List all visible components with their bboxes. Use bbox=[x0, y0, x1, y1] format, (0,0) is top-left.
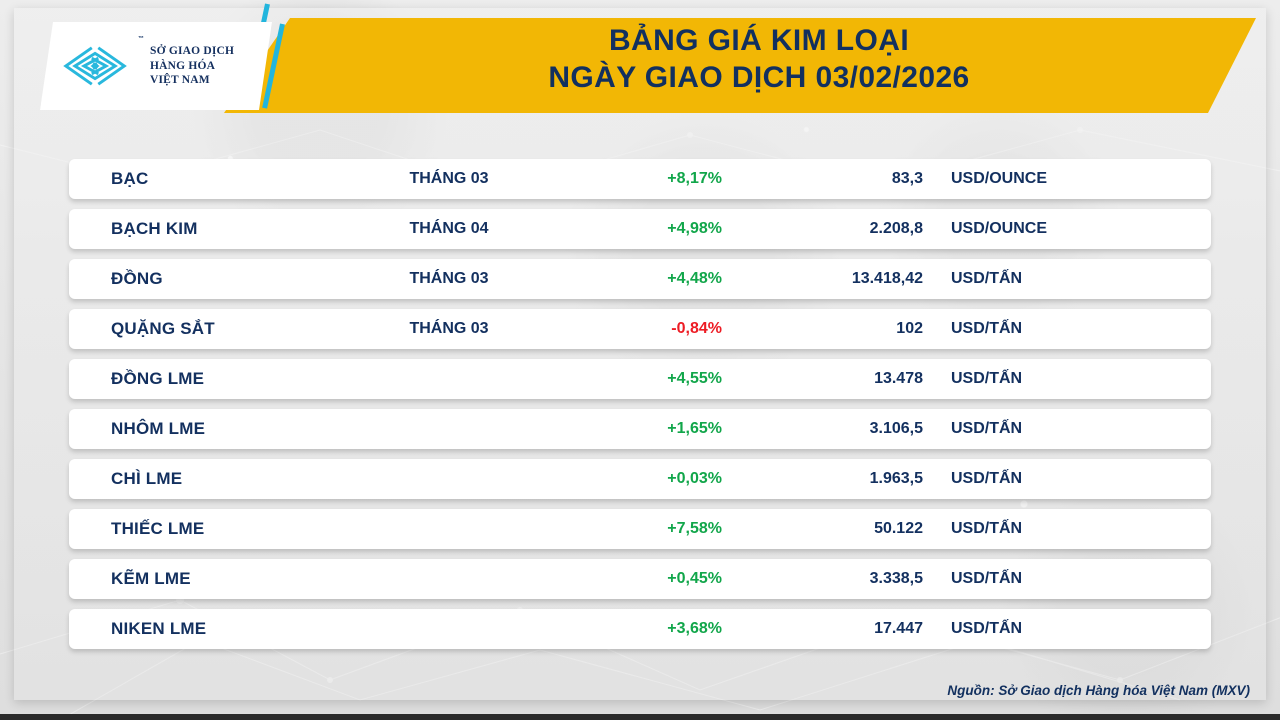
row-change-percent: +1,65% bbox=[569, 420, 722, 438]
logo-line-3: VIỆT NAM bbox=[150, 73, 234, 88]
row-unit: USD/TẤN bbox=[951, 370, 1022, 388]
table-row[interactable]: NHÔM LME+1,65%3.106,5USD/TẤN bbox=[69, 409, 1211, 449]
table-row[interactable]: BẠCTHÁNG 03+8,17%83,3USD/OUNCE bbox=[69, 159, 1211, 199]
row-metal-name: BẠCH KIM bbox=[111, 219, 198, 239]
row-contract-month: THÁNG 03 bbox=[339, 320, 559, 338]
row-unit: USD/TẤN bbox=[951, 620, 1022, 638]
logo-line-1: SỞ GIAO DỊCH bbox=[150, 44, 234, 59]
row-metal-name: ĐỒNG bbox=[111, 269, 163, 289]
row-metal-name: NHÔM LME bbox=[111, 419, 205, 439]
row-unit: USD/TẤN bbox=[951, 320, 1022, 338]
table-row[interactable]: QUẶNG SẮTTHÁNG 03-0,84%102USD/TẤN bbox=[69, 309, 1211, 349]
metal-price-table: BẠCTHÁNG 03+8,17%83,3USD/OUNCEBẠCH KIMTH… bbox=[0, 159, 1280, 659]
row-price: 50.122 bbox=[749, 520, 923, 538]
row-metal-name: THIẾC LME bbox=[111, 519, 204, 539]
row-metal-name: CHÌ LME bbox=[111, 469, 182, 489]
title-secondary: NGÀY GIAO DỊCH 03/02/2026 bbox=[344, 61, 1174, 95]
row-price: 3.106,5 bbox=[749, 420, 923, 438]
row-unit: USD/TẤN bbox=[951, 520, 1022, 538]
row-unit: USD/OUNCE bbox=[951, 220, 1047, 238]
title-primary: BẢNG GIÁ KIM LOẠI bbox=[344, 24, 1174, 58]
table-row[interactable]: ĐỒNG LME+4,55%13.478USD/TẤN bbox=[69, 359, 1211, 399]
mxv-chevron-logo-mark-icon bbox=[58, 42, 136, 90]
row-contract-month: THÁNG 03 bbox=[339, 270, 559, 288]
row-change-percent: -0,84% bbox=[569, 320, 722, 338]
row-metal-name: ĐỒNG LME bbox=[111, 369, 204, 389]
table-row[interactable]: KẼM LME+0,45%3.338,5USD/TẤN bbox=[69, 559, 1211, 599]
row-price: 1.963,5 bbox=[749, 470, 923, 488]
logo-wordmark: SỞ GIAO DỊCH HÀNG HÓA VIỆT NAM bbox=[150, 44, 234, 88]
table-row[interactable]: THIẾC LME+7,58%50.122USD/TẤN bbox=[69, 509, 1211, 549]
trademark-symbol: ™ bbox=[138, 36, 144, 42]
row-change-percent: +3,68% bbox=[569, 620, 722, 638]
row-metal-name: KẼM LME bbox=[111, 569, 191, 589]
row-contract-month: THÁNG 03 bbox=[339, 170, 559, 188]
logo-line-2: HÀNG HÓA bbox=[150, 59, 234, 74]
row-price: 3.338,5 bbox=[749, 570, 923, 588]
row-contract-month: THÁNG 04 bbox=[339, 220, 559, 238]
logo-card: ™ SỞ GIAO DỊCH HÀNG HÓA VIỆT NAM bbox=[40, 22, 272, 110]
row-change-percent: +0,03% bbox=[569, 470, 722, 488]
row-price: 83,3 bbox=[749, 170, 923, 188]
row-price: 17.447 bbox=[749, 620, 923, 638]
table-row[interactable]: CHÌ LME+0,03%1.963,5USD/TẤN bbox=[69, 459, 1211, 499]
row-price: 13.418,42 bbox=[749, 270, 923, 288]
row-unit: USD/TẤN bbox=[951, 420, 1022, 438]
table-row[interactable]: ĐỒNGTHÁNG 03+4,48%13.418,42USD/TẤN bbox=[69, 259, 1211, 299]
row-change-percent: +7,58% bbox=[569, 520, 722, 538]
row-unit: USD/OUNCE bbox=[951, 170, 1047, 188]
row-price: 2.208,8 bbox=[749, 220, 923, 238]
row-change-percent: +8,17% bbox=[569, 170, 722, 188]
row-unit: USD/TẤN bbox=[951, 570, 1022, 588]
row-unit: USD/TẤN bbox=[951, 270, 1022, 288]
row-change-percent: +4,98% bbox=[569, 220, 722, 238]
row-unit: USD/TẤN bbox=[951, 470, 1022, 488]
bottom-bar bbox=[0, 714, 1280, 720]
row-metal-name: BẠC bbox=[111, 169, 148, 189]
table-row[interactable]: NIKEN LME+3,68%17.447USD/TẤN bbox=[69, 609, 1211, 649]
source-note: Nguồn: Sở Giao dịch Hàng hóa Việt Nam (M… bbox=[947, 683, 1250, 698]
row-metal-name: QUẶNG SẮT bbox=[111, 319, 215, 339]
row-price: 13.478 bbox=[749, 370, 923, 388]
header: ™ SỞ GIAO DỊCH HÀNG HÓA VIỆT NAM BẢNG GI… bbox=[14, 8, 1266, 120]
row-price: 102 bbox=[749, 320, 923, 338]
row-metal-name: NIKEN LME bbox=[111, 619, 206, 639]
row-change-percent: +0,45% bbox=[569, 570, 722, 588]
row-change-percent: +4,55% bbox=[569, 370, 722, 388]
page-title: BẢNG GIÁ KIM LOẠI NGÀY GIAO DỊCH 03/02/2… bbox=[344, 24, 1174, 94]
table-row[interactable]: BẠCH KIMTHÁNG 04+4,98%2.208,8USD/OUNCE bbox=[69, 209, 1211, 249]
row-change-percent: +4,48% bbox=[569, 270, 722, 288]
